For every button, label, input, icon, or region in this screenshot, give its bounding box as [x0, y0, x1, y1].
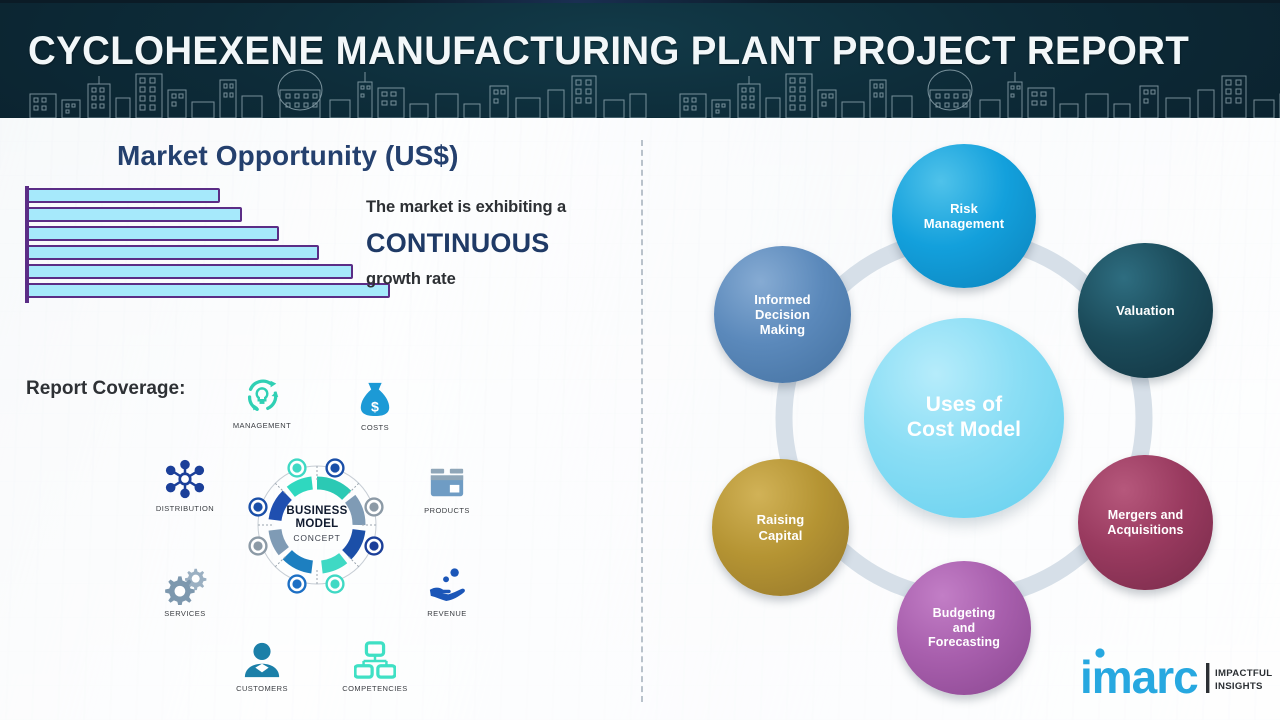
coverage-caption: MANAGEMENT	[214, 421, 310, 430]
management-icon	[214, 373, 310, 417]
report-coverage-label: Report Coverage:	[26, 378, 185, 400]
chart-bar	[27, 283, 390, 298]
node-label-line: Acquisitions	[1107, 523, 1183, 538]
chart-bar	[27, 245, 319, 260]
market-opportunity-bar-chart	[25, 186, 405, 303]
coverage-item-management: MANAGEMENT	[214, 373, 310, 430]
products-icon	[399, 458, 495, 502]
coverage-item-revenue: REVENUE	[399, 561, 495, 618]
chart-bar	[27, 207, 242, 222]
coverage-caption: COSTS	[327, 423, 423, 432]
page-header: CYCLOHEXENE MANUFACTURING PLANT PROJECT …	[0, 0, 1280, 118]
node-label-line: Informed	[754, 292, 810, 307]
center-node-uses-of-cost-model: Uses of Cost Model	[864, 318, 1064, 518]
svg-text:IMPACTFUL: IMPACTFUL	[1215, 668, 1272, 679]
node-label-line: Decision	[754, 307, 810, 322]
node-raising-capital[interactable]: Raising Capital	[712, 459, 849, 596]
coverage-item-customers: CUSTOMERS	[214, 636, 310, 693]
coverage-caption: SERVICES	[137, 609, 233, 618]
svg-text:imarc: imarc	[1080, 651, 1198, 703]
market-opportunity-heading: Market Opportunity (US$)	[117, 140, 459, 172]
node-budgeting-forecasting[interactable]: Budgeting and Forecasting	[897, 561, 1031, 695]
customers-icon	[214, 636, 310, 680]
revenue-icon	[399, 561, 495, 605]
left-panel: Market Opportunity (US$) The market is e…	[0, 118, 641, 720]
node-label-line: Forecasting	[928, 635, 1000, 650]
growth-statement-line1: The market is exhibiting a	[366, 198, 636, 217]
coverage-item-competencies: COMPETENCIES	[327, 636, 423, 693]
node-label-line: and	[928, 621, 1000, 636]
imarc-logo: imarc IMPACTFUL INSIGHTS	[1078, 643, 1274, 705]
business-model-diagram: BUSINESS MODEL CONCEPT	[243, 451, 391, 599]
coverage-caption: DISTRIBUTION	[137, 504, 233, 513]
header-top-accent	[0, 0, 1280, 3]
coverage-caption: PRODUCTS	[399, 506, 495, 515]
node-label-line: Capital	[757, 528, 805, 543]
page-title: CYCLOHEXENE MANUFACTURING PLANT PROJECT …	[28, 29, 1189, 74]
node-label-line: Budgeting	[928, 606, 1000, 621]
node-label-line: Mergers and	[1107, 508, 1183, 523]
svg-text:$: $	[371, 399, 379, 415]
growth-statement: The market is exhibiting a CONTINUOUS gr…	[366, 198, 636, 289]
coverage-caption: REVENUE	[399, 609, 495, 618]
chart-bar	[27, 264, 353, 279]
chart-bar	[27, 226, 279, 241]
coverage-caption: COMPETENCIES	[327, 684, 423, 693]
growth-statement-emphasis: CONTINUOUS	[366, 228, 636, 259]
coverage-item-distribution: DISTRIBUTION	[137, 456, 233, 513]
right-panel: Uses of Cost Model Risk Management Valua…	[641, 118, 1280, 720]
coverage-item-products: PRODUCTS	[399, 458, 495, 515]
node-label-line: Raising	[757, 512, 805, 527]
node-valuation[interactable]: Valuation	[1078, 243, 1213, 378]
coverage-caption: CUSTOMERS	[214, 684, 310, 693]
chart-bar	[27, 188, 220, 203]
distribution-icon	[137, 456, 233, 500]
node-label-line: Making	[754, 322, 810, 337]
node-label-line: Valuation	[1116, 303, 1175, 318]
svg-text:INSIGHTS: INSIGHTS	[1215, 681, 1263, 692]
center-node-line2: Cost Model	[907, 418, 1021, 443]
center-node-line1: Uses of	[907, 393, 1021, 418]
services-icon	[137, 561, 233, 605]
competencies-icon	[327, 636, 423, 680]
node-label-line: Management	[924, 216, 1004, 231]
node-label-line: Risk	[924, 201, 1004, 216]
growth-statement-line3: growth rate	[366, 270, 636, 289]
costs-icon: $	[327, 375, 423, 419]
node-informed-decision-making[interactable]: Informed Decision Making	[714, 246, 851, 383]
node-mergers-acquisitions[interactable]: Mergers and Acquisitions	[1078, 455, 1213, 590]
coverage-item-services: SERVICES	[137, 561, 233, 618]
coverage-item-costs: $ COSTS	[327, 375, 423, 432]
slide-body: Market Opportunity (US$) The market is e…	[0, 118, 1280, 720]
node-risk-management[interactable]: Risk Management	[892, 144, 1036, 288]
